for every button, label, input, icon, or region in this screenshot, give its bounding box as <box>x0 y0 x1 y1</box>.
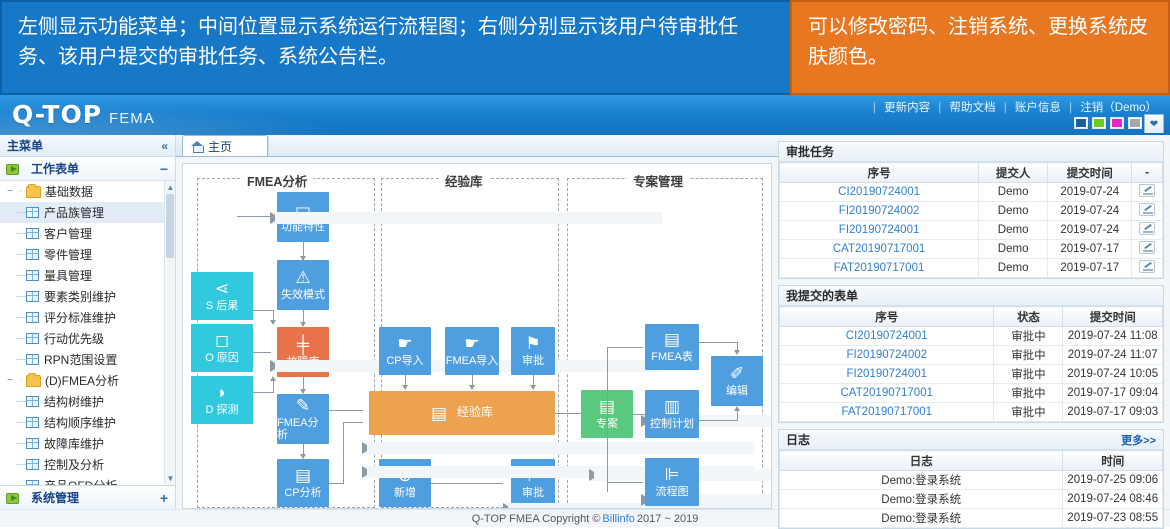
node-cp-import[interactable]: ☛ CP导入 <box>379 327 431 375</box>
node-label: FMEA分析 <box>277 417 329 441</box>
table-row[interactable]: CI20190724001 审批中 2019-07-24 11:08 <box>780 327 1163 346</box>
cell-time: 2019-07-17 09:04 <box>1063 384 1163 403</box>
grid-icon <box>26 396 39 407</box>
grid-icon <box>26 354 39 365</box>
node-label: 流程图 <box>656 486 689 498</box>
cell-time: 2019-07-24 11:08 <box>1063 327 1163 346</box>
cell-time: 2019-07-23 08:55 <box>1063 509 1163 528</box>
cell-time: 2019-07-24 <box>1048 183 1132 202</box>
right-rail: ❤ 审批任务 序号 提交人 提交时间 - CI20190724001 <box>778 135 1170 509</box>
cube-icon: ◻ <box>215 332 229 349</box>
edit-pen-icon[interactable] <box>1139 241 1155 254</box>
flowchart: FMEA分析 经验库 专案管理 ▭ 功能特性 ⚠ 失效模式 <box>182 163 772 509</box>
node-label: FMEA导入 <box>446 355 499 367</box>
tree-line: — <box>16 354 26 365</box>
node-flow-chart[interactable]: ⊫ 流程图 <box>645 458 699 506</box>
panel-log-header: 日志 更多>> <box>779 430 1163 450</box>
sidebar-item-label: 要素类别维护 <box>44 288 116 305</box>
bulb-icon: ◗ <box>217 384 227 401</box>
sidebar-item-label: 控制及分析 <box>44 456 104 473</box>
table-row[interactable]: CI20190724001 Demo 2019-07-24 <box>780 183 1163 202</box>
cell-submitter: Demo <box>979 240 1048 259</box>
tree-line: — <box>16 207 26 218</box>
cell-id[interactable]: CAT20190717001 <box>780 384 994 403</box>
panel-approval-title: 审批任务 <box>786 143 834 160</box>
sidebar-item-label: 零件管理 <box>44 246 92 263</box>
tree-line: · <box>16 375 26 386</box>
sidebar-item-label: 客户管理 <box>44 225 92 242</box>
submitted-id-link[interactable]: FI20190724001 <box>846 368 927 380</box>
cell-status: 审批中 <box>994 327 1063 346</box>
sidebar-item-fault-library-d[interactable]: — 故障库维护 <box>0 433 175 454</box>
node-fmea-analysis[interactable]: ✎ FMEA分析 <box>277 394 329 444</box>
cell-time: 2019-07-24 <box>1048 221 1132 240</box>
tree-line: — <box>16 249 26 260</box>
sidebar-tree: − · 基础数据 — 产品族管理 — 客户管理 — 零件管理 — <box>0 181 175 485</box>
node-fmea-table[interactable]: ▤ FMEA表 <box>645 324 699 370</box>
system-arrow-icon <box>6 491 21 504</box>
approval-id-link[interactable]: FI20190724001 <box>839 224 920 236</box>
table-row[interactable]: FI20190724001 Demo 2019-07-24 <box>780 221 1163 240</box>
panel-submitted-title: 我提交的表单 <box>786 287 858 304</box>
grid-icon <box>26 228 39 239</box>
cell-status: 审批中 <box>994 403 1063 422</box>
tree-line: · <box>16 186 26 197</box>
approval-id-link[interactable]: CAT20190717001 <box>833 243 926 255</box>
cell-submitter: Demo <box>979 202 1048 221</box>
node-edit[interactable]: ✐ 编辑 <box>711 356 763 406</box>
sidebar-scrollbar[interactable]: ▲ ▼ <box>164 181 175 485</box>
grid-icon <box>26 249 39 260</box>
node-severity[interactable]: ⋖ S 后果 <box>191 272 253 320</box>
col-id: 序号 <box>780 163 979 183</box>
flowchart-icon: ⊫ <box>665 466 680 483</box>
edit-pen-icon[interactable] <box>1139 203 1155 216</box>
grid-icon <box>26 270 39 281</box>
sidebar-item-structure-order[interactable]: — 结构顺序维护 <box>0 412 175 433</box>
arrow-line <box>253 352 271 353</box>
tree-line: — <box>16 333 26 344</box>
cell-time: 2019-07-17 <box>1048 240 1132 259</box>
database-icon: ▤ <box>431 405 447 422</box>
header-link-updates[interactable]: 更新内容 <box>884 102 930 114</box>
fault-icon: ╪ <box>297 336 309 353</box>
grid-icon <box>26 207 39 218</box>
arrow-line <box>607 347 608 492</box>
table-row[interactable]: CAT20190717001 Demo 2019-07-17 <box>780 240 1163 259</box>
cell-id[interactable]: CAT20190717001 <box>780 240 979 259</box>
table-row[interactable]: FI20190724001 审批中 2019-07-24 10:05 <box>780 365 1163 384</box>
cell-submitter: Demo <box>979 221 1048 240</box>
arrow-head <box>734 350 740 355</box>
sidebar-group-worksheets-label: 工作表单 <box>31 160 79 177</box>
cell-id[interactable]: FAT20190717001 <box>780 403 994 422</box>
table-row[interactable]: FAT20190717001 Demo 2019-07-17 <box>780 259 1163 278</box>
tree-line: — <box>16 270 26 281</box>
node-label: 审批 <box>522 355 544 367</box>
sidebar-item-label: 量具管理 <box>44 267 92 284</box>
node-experience-library[interactable]: ▤ 经验库 <box>369 391 555 435</box>
grid-icon <box>26 291 39 302</box>
annotation-right: 可以修改密码、注销系统、更换系统皮肤颜色。 <box>790 0 1170 95</box>
node-failure-mode[interactable]: ⚠ 失效模式 <box>277 260 329 310</box>
header-link-help[interactable]: 帮助文档 <box>950 102 996 114</box>
arrow-head <box>362 442 754 454</box>
node-label: S 后果 <box>206 300 238 312</box>
skin-swatch-gray[interactable] <box>1128 117 1142 129</box>
arrow-line <box>737 410 738 421</box>
approval-id-link[interactable]: FI20190724002 <box>839 205 920 217</box>
node-label: 经验库 <box>457 406 493 419</box>
sidebar-item-label: 评分标准维护 <box>44 309 116 326</box>
cell-action[interactable] <box>1132 221 1163 240</box>
table-row[interactable]: FI20190724002 审批中 2019-07-24 11:07 <box>780 346 1163 365</box>
node-occurrence[interactable]: ◻ O 原因 <box>191 324 253 372</box>
header-link-sep-1: | <box>938 102 941 114</box>
table-header-row: 序号 提交人 提交时间 - <box>780 163 1163 183</box>
worksheets-toggle-icon[interactable]: − <box>160 161 168 177</box>
tree-line: — <box>16 480 26 485</box>
grid-icon <box>26 417 39 428</box>
tab-bar: 主页 <box>176 135 778 157</box>
arrow-line <box>607 347 643 348</box>
tree-line: — <box>16 417 26 428</box>
sidebar-item-product-qfd[interactable]: — 产品QFD分析 <box>0 475 175 485</box>
node-label: 失效模式 <box>281 289 325 301</box>
node-label: 审批 <box>522 487 544 499</box>
section-label-exp: 经验库 <box>439 171 489 190</box>
arrow-line <box>329 483 344 484</box>
approval-id-link[interactable]: CI20190724001 <box>838 186 920 198</box>
col-id: 序号 <box>780 307 994 327</box>
cell-submitter: Demo <box>979 259 1048 278</box>
flowchart-wrapper: FMEA分析 经验库 专案管理 ▭ 功能特性 ⚠ 失效模式 <box>176 157 778 509</box>
tree-line: — <box>16 438 26 449</box>
sidebar-item-element-category[interactable]: — 要素类别维护 <box>0 286 175 307</box>
header-links: | 更新内容 | 帮助文档 | 账户信息 | 注销（Demo） <box>871 99 1160 115</box>
cell-time: 2019-07-24 11:07 <box>1063 346 1163 365</box>
logo-main-text: Q-TOP <box>12 100 102 129</box>
node-label: 控制计划 <box>650 418 694 430</box>
grid-icon <box>26 438 39 449</box>
log-table: 日志 时间 Demo:登录系统 2019-07-25 09:06 Demo:登录… <box>779 450 1163 528</box>
cell-log-text: Demo:登录系统 <box>780 509 1063 528</box>
cell-time: 2019-07-24 10:05 <box>1063 365 1163 384</box>
arrow-head <box>530 385 536 390</box>
sidebar-item-label: RPN范围设置 <box>44 351 117 368</box>
cell-status: 审批中 <box>994 346 1063 365</box>
table-row[interactable]: FAT20190717001 审批中 2019-07-17 09:03 <box>780 403 1163 422</box>
cell-action[interactable] <box>1132 240 1163 259</box>
table-row[interactable]: Demo:登录系统 2019-07-24 08:46 <box>780 490 1163 509</box>
arrow-line <box>329 410 363 411</box>
submitted-id-link[interactable]: CAT20190717001 <box>840 387 933 399</box>
table-row[interactable]: CAT20190717001 审批中 2019-07-17 09:04 <box>780 384 1163 403</box>
sidebar-item-label: 故障库维护 <box>44 435 104 452</box>
cell-id[interactable]: FI20190724001 <box>780 221 979 240</box>
section-label-fmea: FMEA分析 <box>241 171 313 190</box>
cell-time: 2019-07-25 09:06 <box>1063 471 1163 490</box>
sidebar-item-label: 产品QFD分析 <box>44 477 117 485</box>
cell-status: 审批中 <box>994 384 1063 403</box>
footer-prefix: Q-TOP FMEA Copyright © <box>472 513 601 525</box>
node-label: FMEA表 <box>651 351 693 363</box>
sidebar-title: 主菜单 <box>7 137 43 154</box>
arrow-head <box>270 376 276 381</box>
tree-line: — <box>16 312 26 323</box>
twisty-icon[interactable]: − <box>4 186 16 197</box>
cell-action[interactable] <box>1132 202 1163 221</box>
arrow-head <box>402 385 408 390</box>
scroll-thumb[interactable] <box>166 194 174 258</box>
approval-table: 序号 提交人 提交时间 - CI20190724001 Demo 2019-07… <box>779 162 1163 278</box>
tab-bar-filler <box>268 136 778 156</box>
sidebar-item-label: 产品族管理 <box>44 204 104 221</box>
arrow-line <box>273 380 274 393</box>
panel-submitted-forms: 我提交的表单 序号 状态 提交时间 CI20190724001 审批中 2019… <box>778 285 1164 423</box>
arrow-line <box>237 216 271 217</box>
tree-line: — <box>16 396 26 407</box>
scroll-down-icon[interactable]: ▼ <box>166 473 175 484</box>
tab-home[interactable]: 主页 <box>182 135 268 156</box>
tab-home-label: 主页 <box>208 138 232 155</box>
sidebar-item-action-priority[interactable]: — 行动优先级 <box>0 328 175 349</box>
cell-action[interactable] <box>1132 183 1163 202</box>
sidebar-title-bar: 主菜单 « <box>0 135 175 157</box>
system-toggle-icon[interactable]: + <box>160 490 168 506</box>
import-icon: ☛ <box>397 335 412 352</box>
folder-icon <box>26 186 41 198</box>
col-submitter: 提交人 <box>979 163 1048 183</box>
cell-id[interactable]: FI20190724002 <box>780 346 994 365</box>
submitted-id-link[interactable]: FI20190724002 <box>846 349 927 361</box>
sidebar-item-label: 结构树维护 <box>44 393 104 410</box>
annotation-banners: 左侧显示功能菜单；中间位置显示系统运行流程图；右侧分别显示该用户待审批任务、该用… <box>0 0 1170 95</box>
node-control-plan[interactable]: ▥ 控制计划 <box>645 390 699 438</box>
panel-log: 日志 更多>> 日志 时间 Demo:登录系统 2019-07-25 09:06 <box>778 429 1164 529</box>
node-fmea-import[interactable]: ☛ FMEA导入 <box>445 327 499 375</box>
arrow-head <box>469 385 475 390</box>
submitted-id-link[interactable]: CI20190724001 <box>846 330 928 342</box>
worksheet-arrow-icon <box>6 162 21 175</box>
node-detection[interactable]: ◗ D 探测 <box>191 376 253 424</box>
arrow-head <box>270 212 662 224</box>
sidebar-item-label: 行动优先级 <box>44 330 104 347</box>
warning-icon: ⚠ <box>295 269 310 286</box>
arrow-line <box>253 310 273 311</box>
node-label: CP导入 <box>386 355 423 367</box>
col-time: 时间 <box>1063 451 1163 471</box>
arrow-line <box>431 483 503 484</box>
panel-approval-tasks: 审批任务 序号 提交人 提交时间 - CI20190724001 Demo 20… <box>778 141 1164 279</box>
table-header-row: 日志 时间 <box>780 451 1163 471</box>
node-label: O 原因 <box>205 352 239 364</box>
panel-log-title: 日志 <box>786 431 810 448</box>
skin-swatch-magenta[interactable] <box>1110 117 1124 129</box>
footer-suffix: 2017 ~ 2019 <box>637 513 698 525</box>
main-area: 主菜单 « 工作表单 − − · 基础数据 — 产品族管理 <box>0 135 1170 509</box>
node-label: D 探测 <box>206 404 239 416</box>
flag-icon: ⚑ <box>525 335 540 352</box>
tree-line: — <box>16 228 26 239</box>
skin-swatch-green[interactable] <box>1092 117 1106 129</box>
table-header-row: 序号 状态 提交时间 <box>780 307 1163 327</box>
footer-brand-link[interactable]: Billinfo <box>602 513 634 525</box>
sidebar-item-rpn-range[interactable]: — RPN范围设置 <box>0 349 175 370</box>
grid-icon <box>26 459 39 470</box>
arrow-line <box>699 420 737 421</box>
sidebar-item-label: 结构顺序维护 <box>44 414 116 431</box>
submitted-id-link[interactable]: FAT20190717001 <box>841 406 932 418</box>
approval-id-link[interactable]: FAT20190717001 <box>834 262 925 274</box>
sidebar-item-control-analysis[interactable]: — 控制及分析 <box>0 454 175 475</box>
node-label: 新增 <box>394 487 416 499</box>
sidebar-group-system-label: 系统管理 <box>31 489 79 506</box>
arrow-line <box>699 342 737 343</box>
sidebar-item-customer[interactable]: — 客户管理 <box>0 223 175 244</box>
clipboard-icon: ▥ <box>664 398 680 415</box>
cell-id[interactable]: CI20190724001 <box>780 183 979 202</box>
header-link-logout[interactable]: 注销（Demo） <box>1080 102 1157 114</box>
cell-status: 审批中 <box>994 365 1063 384</box>
analysis-icon: ✎ <box>296 397 310 414</box>
app-header: Q-TOP FEMA | 更新内容 | 帮助文档 | 账户信息 | 注销（Dem… <box>0 95 1170 135</box>
col-action: - <box>1132 163 1163 183</box>
cell-action[interactable] <box>1132 259 1163 278</box>
cell-submitter: Demo <box>979 183 1048 202</box>
submitted-table: 序号 状态 提交时间 CI20190724001 审批中 2019-07-24 … <box>779 306 1163 422</box>
cell-id[interactable]: FI20190724001 <box>780 365 994 384</box>
cell-time: 2019-07-17 09:03 <box>1063 403 1163 422</box>
center-area: 主页 FMEA分析 经验库 专案管理 ▭ 功能特性 <box>176 135 778 509</box>
cell-log-text: Demo:登录系统 <box>780 471 1063 490</box>
sidebar-item-parts[interactable]: — 零件管理 <box>0 244 175 265</box>
col-time: 提交时间 <box>1048 163 1132 183</box>
cell-log-text: Demo:登录系统 <box>780 490 1063 509</box>
grid-icon <box>26 312 39 323</box>
node-approve-import[interactable]: ⚑ 审批 <box>511 327 555 375</box>
sidebar-folder-label: 基础数据 <box>45 183 93 200</box>
collapse-sidebar-icon[interactable]: « <box>161 139 168 153</box>
share-icon: ⋖ <box>215 280 229 297</box>
node-cp-analysis[interactable]: ▤ CP分析 <box>277 459 329 507</box>
home-icon <box>191 141 204 152</box>
arrow-line <box>343 422 344 483</box>
sidebar-folder-label: (D)FMEA分析 <box>45 372 119 389</box>
import-icon: ☛ <box>464 335 479 352</box>
edit-icon: ✐ <box>730 365 744 382</box>
arrow-head <box>734 406 740 411</box>
section-label-project: 专案管理 <box>627 171 689 190</box>
collapse-rail-icon[interactable]: ❤ <box>1144 114 1164 133</box>
sidebar-folder-basic-data[interactable]: − · 基础数据 <box>0 181 175 202</box>
sidebar-item-structure-tree[interactable]: — 结构树维护 <box>0 391 175 412</box>
sidebar-item-product-family[interactable]: — 产品族管理 <box>0 202 175 223</box>
table-row[interactable]: Demo:登录系统 2019-07-25 09:06 <box>780 471 1163 490</box>
col-time: 提交时间 <box>1063 307 1163 327</box>
folder-icon <box>26 375 41 387</box>
edit-pen-icon[interactable] <box>1139 222 1155 235</box>
scroll-up-icon[interactable]: ▲ <box>166 182 175 193</box>
panel-submitted-header: 我提交的表单 <box>779 286 1163 306</box>
table-row[interactable]: Demo:登录系统 2019-07-23 08:55 <box>780 509 1163 528</box>
cell-id[interactable]: FI20190724002 <box>780 202 979 221</box>
arrow-line <box>633 414 645 415</box>
grid-icon <box>26 480 39 485</box>
sidebar-item-scoring-standard[interactable]: — 评分标准维护 <box>0 307 175 328</box>
sidebar-group-system-mgmt[interactable]: 系统管理 + <box>0 485 175 509</box>
arrow-line <box>343 422 363 423</box>
edit-pen-icon[interactable] <box>1139 260 1155 273</box>
arrow-line <box>253 392 273 393</box>
logo-sub-text: FEMA <box>109 110 155 127</box>
cell-time: 2019-07-17 <box>1048 259 1132 278</box>
cell-time: 2019-07-24 <box>1048 202 1132 221</box>
arrow-head <box>270 320 276 325</box>
log-more-link[interactable]: 更多>> <box>1121 432 1156 448</box>
header-link-account[interactable]: 账户信息 <box>1015 102 1061 114</box>
twisty-icon[interactable]: − <box>4 375 16 386</box>
annotation-left: 左侧显示功能菜单；中间位置显示系统运行流程图；右侧分别显示该用户待审批任务、该用… <box>0 0 790 95</box>
sidebar-group-worksheets[interactable]: 工作表单 − <box>0 157 175 181</box>
node-label: CP分析 <box>284 487 321 499</box>
app-logo: Q-TOP FEMA <box>12 100 155 129</box>
arrow-line <box>607 482 643 483</box>
header-link-sep-2: | <box>1004 102 1007 114</box>
header-link-sep-3: | <box>1069 102 1072 114</box>
sidebar-folder-dfmea[interactable]: − · (D)FMEA分析 <box>0 370 175 391</box>
skin-swatch-blue[interactable] <box>1074 117 1088 129</box>
sidebar: 主菜单 « 工作表单 − − · 基础数据 — 产品族管理 <box>0 135 176 509</box>
tree-line: — <box>16 291 26 302</box>
grid-icon <box>26 333 39 344</box>
panel-approval-header: 审批任务 <box>779 142 1163 162</box>
cell-id[interactable]: CI20190724001 <box>780 327 994 346</box>
header-link-sep-0: | <box>873 102 876 114</box>
table-row[interactable]: FI20190724002 Demo 2019-07-24 <box>780 202 1163 221</box>
cell-time: 2019-07-24 08:46 <box>1063 490 1163 509</box>
sidebar-item-gauges[interactable]: — 量具管理 <box>0 265 175 286</box>
node-label: 编辑 <box>726 385 748 397</box>
edit-pen-icon[interactable] <box>1139 184 1155 197</box>
table-icon: ▤ <box>664 331 680 348</box>
cell-id[interactable]: FAT20190717001 <box>780 259 979 278</box>
col-log: 日志 <box>780 451 1063 471</box>
col-status: 状态 <box>994 307 1063 327</box>
tree-line: — <box>16 459 26 470</box>
cp-icon: ▤ <box>295 467 311 484</box>
